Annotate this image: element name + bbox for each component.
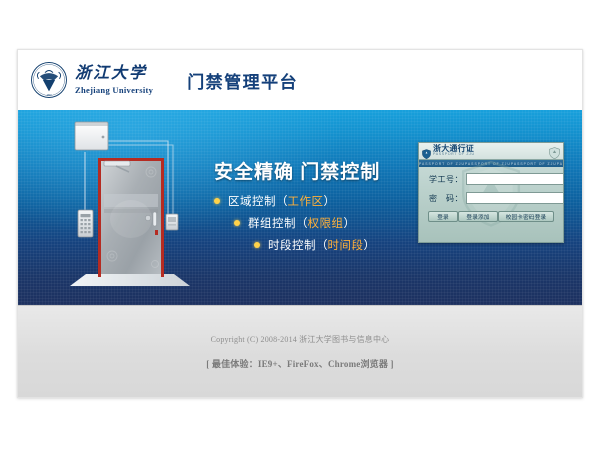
hero-banner: 安全精确 门禁控制 区域控制 （ 工作区 ） 群组控制 （ 权限组 ）	[18, 110, 582, 305]
strip-text: PASSPORT OF ZJU	[419, 162, 465, 166]
student-staff-id-label: 学工号：	[426, 174, 466, 185]
feature-bullet-list: 区域控制 （ 工作区 ） 群组控制 （ 权限组 ） 时段控制 （ 时间段	[214, 193, 375, 259]
list-item: 时段控制 （ 时间段 ）	[214, 237, 375, 253]
login-form: 学工号： 密 码： 登录 登录添加 校园卡密码登录	[419, 167, 563, 222]
bullet-paren-close: ）	[324, 193, 336, 209]
strip-text: PASSPORT OF ZJU	[465, 162, 511, 166]
list-item: 区域控制 （ 工作区 ）	[214, 193, 375, 209]
bullet-label: 时段控制	[268, 237, 316, 253]
site-footer: Copyright (C) 2008-2014 浙江大学图书与信息中心 [ 最佳…	[18, 305, 582, 398]
shield-badge-icon	[549, 146, 560, 158]
svg-text:1897: 1897	[46, 94, 52, 97]
login-button[interactable]: 登录	[428, 211, 458, 222]
login-panel: 浙大通行证 PASSPORT OF ZJU PASSPORT OF ZJU PA…	[418, 142, 564, 243]
password-label: 密 码：	[426, 193, 466, 204]
bullet-label: 群组控制	[248, 215, 296, 231]
login-button-group: 登录 登录添加 校园卡密码登录	[426, 211, 556, 222]
bullet-paren-close: ）	[344, 215, 356, 231]
bullet-accent: 工作区	[288, 193, 324, 209]
university-name-cn: 浙江大学	[75, 65, 153, 83]
password-input[interactable]	[466, 192, 564, 204]
browser-support-note: [ 最佳体验：IE9+、FireFox、Chrome浏览器 ]	[206, 357, 393, 370]
university-name-en: Zhejiang University	[75, 85, 153, 95]
strip-text: PASSPORT OF ZJU	[557, 162, 563, 166]
main-card: 1897 浙江大学 Zhejiang University 门禁管理平台	[17, 49, 583, 398]
bullet-dot-icon	[234, 220, 240, 226]
student-staff-id-input[interactable]	[466, 173, 564, 185]
bullet-paren-open: （	[296, 215, 308, 231]
university-logo[interactable]: 1897 浙江大学 Zhejiang University	[30, 61, 153, 99]
bullet-accent: 权限组	[308, 215, 344, 231]
door-access-control-illustration	[56, 114, 204, 304]
bullet-label: 区域控制	[228, 193, 276, 209]
bullet-dot-icon	[254, 242, 260, 248]
login-panel-header: 浙大通行证 PASSPORT OF ZJU	[419, 143, 563, 160]
copyright-text: Copyright (C) 2008-2014 浙江大学图书与信息中心	[211, 334, 390, 345]
form-row-password: 密 码：	[426, 192, 556, 204]
campus-card-login-button[interactable]: 校园卡密码登录	[498, 211, 554, 222]
bullet-paren-open: （	[316, 237, 328, 253]
site-header: 1897 浙江大学 Zhejiang University 门禁管理平台	[18, 50, 582, 110]
banner-headline: 安全精确 门禁控制	[214, 157, 380, 184]
form-row-userid: 学工号：	[426, 173, 556, 185]
login-add-button[interactable]: 登录添加	[458, 211, 498, 222]
bullet-accent: 时间段	[328, 237, 364, 253]
bullet-paren-close: ）	[364, 237, 376, 253]
list-item: 群组控制 （ 权限组 ）	[214, 215, 375, 231]
login-panel-subtitle: PASSPORT OF ZJU	[433, 153, 475, 157]
shield-icon	[422, 146, 431, 156]
passport-strip: PASSPORT OF ZJU PASSPORT OF ZJU PASSPORT…	[419, 160, 563, 167]
zju-emblem-icon: 1897	[30, 61, 68, 99]
bullet-paren-open: （	[276, 193, 288, 209]
page-title: 门禁管理平台	[187, 68, 298, 93]
strip-text: PASSPORT OF ZJU	[511, 162, 557, 166]
bullet-dot-icon	[214, 198, 220, 204]
page-root: 1897 浙江大学 Zhejiang University 门禁管理平台	[0, 0, 600, 450]
